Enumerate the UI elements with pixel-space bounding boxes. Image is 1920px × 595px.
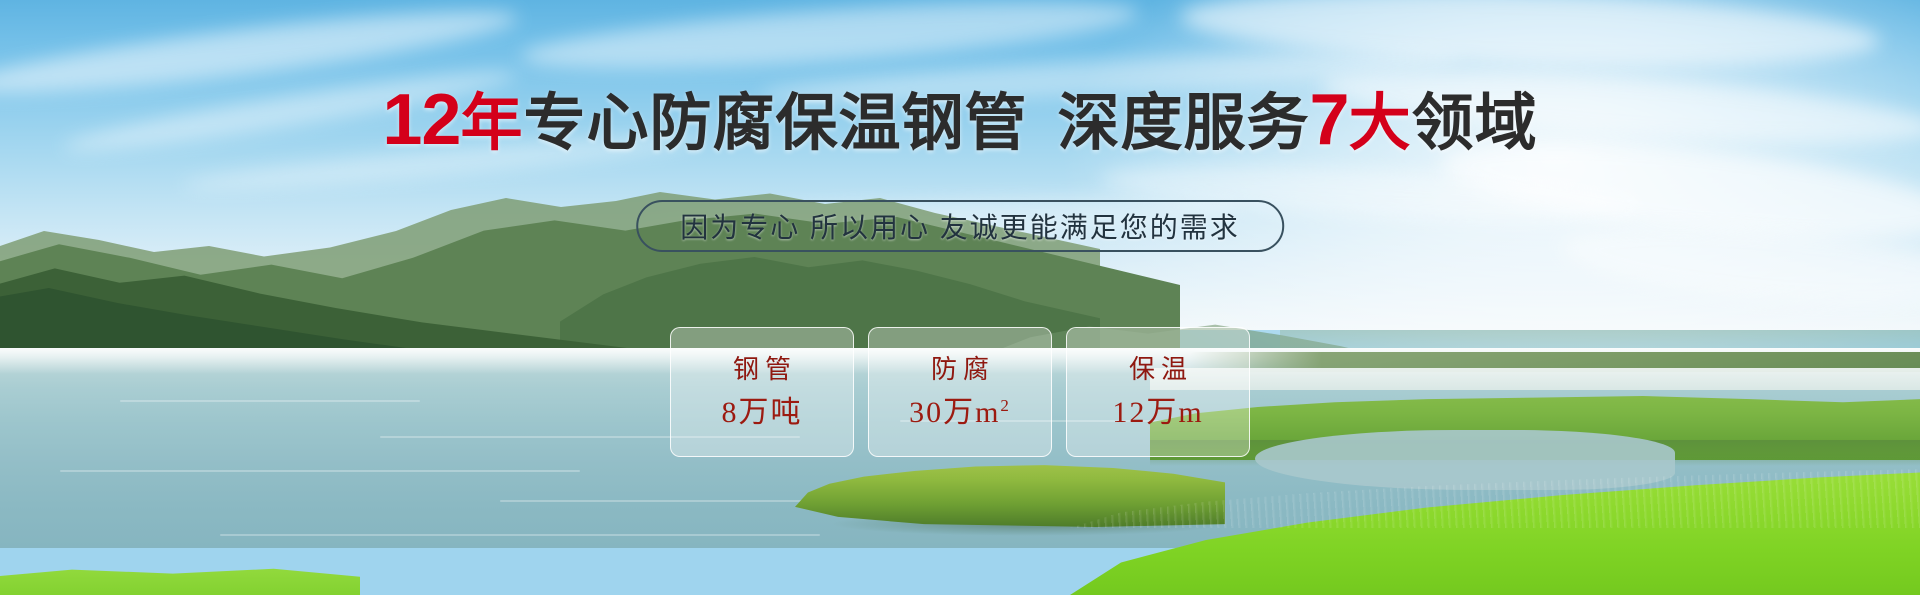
headline-main-right-suffix: 领域 — [1412, 89, 1538, 158]
water-ripple — [220, 534, 820, 536]
foreground-lawn-left — [0, 560, 360, 595]
headline-main-right-prefix: 深度服务 — [1058, 89, 1310, 158]
stat-card[interactable]: 防腐 30万m2 — [868, 327, 1052, 457]
stat-label: 防腐 — [925, 356, 995, 382]
stat-value: 8万吨 — [722, 398, 803, 428]
water-ripple — [60, 470, 580, 472]
headline-years-number: 12 — [382, 80, 460, 160]
stat-card[interactable]: 钢管 8万吨 — [670, 327, 854, 457]
sky-background — [0, 0, 1920, 330]
subtitle-text: 因为专心 所以用心 友诚更能满足您的需求 — [680, 206, 1240, 246]
stat-card-group: 钢管 8万吨 防腐 30万m2 保温 12万m — [670, 327, 1250, 457]
headline-fields-number: 7 — [1310, 80, 1349, 160]
banner-headline: 12年专心防腐保温钢管深度服务7大领域 — [0, 86, 1920, 158]
water-ripple — [120, 400, 420, 402]
stat-label: 钢管 — [727, 356, 797, 382]
far-water-strip — [1150, 368, 1920, 390]
stat-value-exponent: 2 — [1000, 396, 1011, 415]
stat-value: 12万m — [1112, 398, 1203, 428]
headline-main-left: 专心防腐保温钢管 — [524, 89, 1028, 158]
stat-label: 保温 — [1123, 356, 1193, 382]
stat-value-text: 30万m — [909, 396, 1000, 429]
promo-banner: 12年专心防腐保温钢管深度服务7大领域 因为专心 所以用心 友诚更能满足您的需求… — [0, 0, 1920, 595]
headline-years-unit: 年 — [460, 89, 523, 158]
subtitle-pill: 因为专心 所以用心 友诚更能满足您的需求 — [636, 200, 1284, 252]
stat-value: 30万m2 — [909, 398, 1011, 428]
headline-fields-unit: 大 — [1349, 89, 1412, 158]
stat-card[interactable]: 保温 12万m — [1066, 327, 1250, 457]
stat-value-text: 12万m — [1112, 396, 1203, 429]
stat-value-text: 8万吨 — [722, 396, 803, 429]
